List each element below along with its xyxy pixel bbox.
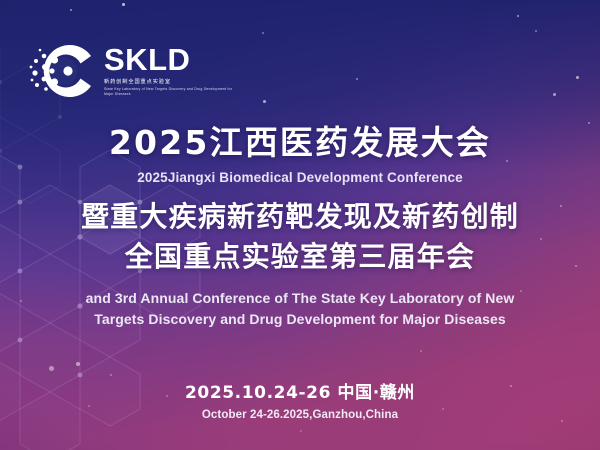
date-venue-cn: 2025.10.24-26 中国·赣州 <box>0 378 600 403</box>
skld-c-molecule-logo <box>28 35 100 107</box>
conference-subtitle-cn-line1: 暨重大疾病新药靶发现及新药创制 <box>0 199 600 235</box>
skld-lab-name-cn: 新药创制全国重点实验室 <box>104 79 236 86</box>
conference-title-cn: 2025江西医药发展大会 <box>0 124 600 163</box>
skld-lab-name-en: State Key Laboratory of New Targets Disc… <box>104 87 236 97</box>
conference-title-en: 2025Jiangxi Biomedical Development Confe… <box>0 170 600 185</box>
skld-wordmark-block: SKLD 新药创制全国重点实验室 State Key Laboratory of… <box>104 44 236 97</box>
conference-poster: SKLD 新药创制全国重点实验室 State Key Laboratory of… <box>0 0 600 450</box>
skld-logo: SKLD 新药创制全国重点实验室 State Key Laboratory of… <box>28 33 243 108</box>
conference-subtitle-cn-line2: 全国重点实验室第三届年会 <box>0 239 600 275</box>
skld-wordmark: SKLD <box>104 44 236 75</box>
date-venue-en: October 24-26.2025,Ganzhou,China <box>0 409 600 421</box>
conference-subtitle-en-line1: and 3rd Annual Conference of The State K… <box>0 288 600 310</box>
date-venue-block: 2025.10.24-26 中国·赣州 October 24-26.2025,G… <box>0 378 600 421</box>
conference-subtitle-en-line2: Targets Discovery and Drug Development f… <box>0 309 600 331</box>
conference-subtitle-en: and 3rd Annual Conference of The State K… <box>0 288 600 331</box>
title-block: 2025江西医药发展大会 2025Jiangxi Biomedical Deve… <box>0 124 600 331</box>
